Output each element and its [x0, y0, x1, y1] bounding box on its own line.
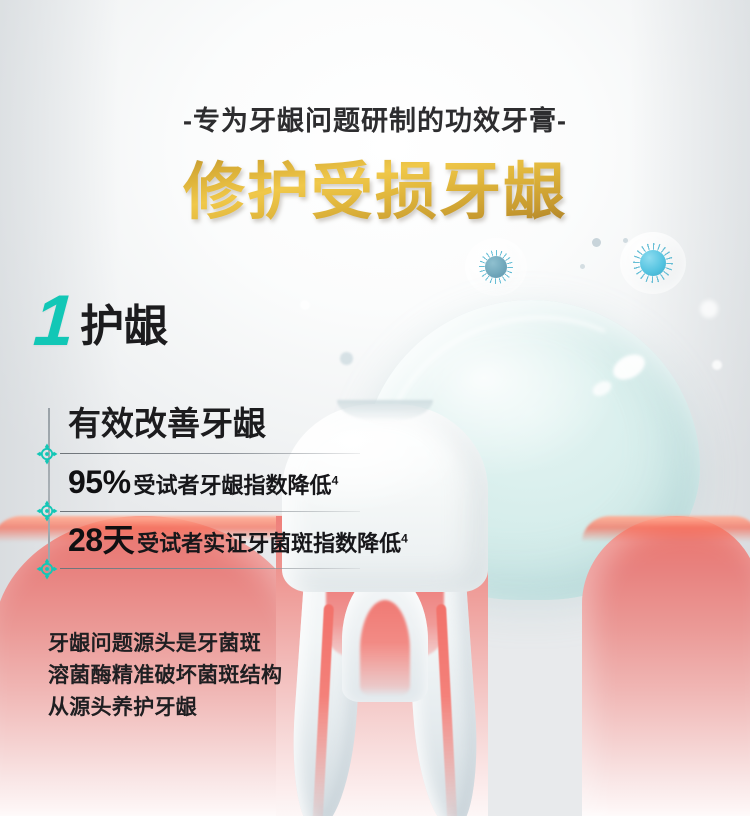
crosshair-target-icon	[36, 500, 58, 522]
stat-label: 受试者牙龈指数降低4	[134, 473, 339, 499]
crosshair-target-icon	[36, 443, 58, 465]
stat-value: 95%	[68, 463, 131, 501]
poster-content: -专为牙龈问题研制的功效牙膏- 修护受损牙龈 1 护龈 有效改善牙龈	[0, 0, 750, 816]
crosshair-target-icon	[36, 558, 58, 580]
section-number: 1	[32, 292, 76, 351]
page-title: 修护受损牙龈	[0, 141, 750, 231]
claim-divider	[60, 511, 360, 512]
supporting-copy-line: 从源头养护牙龈	[48, 692, 282, 724]
stat-footnote-marker: 4	[401, 531, 408, 545]
kicker-text: -专为牙龈问题研制的功效牙膏-	[0, 99, 750, 138]
section-title: 护龈	[80, 305, 168, 351]
section-header: 1 护龈	[34, 292, 168, 351]
claim-divider	[60, 453, 360, 454]
stat-footnote-marker: 4	[332, 474, 339, 488]
claim-stat-row: 95% 受试者牙龈指数降低4	[48, 463, 360, 501]
product-poster: -专为牙龈问题研制的功效牙膏- 修护受损牙龈 1 护龈 有效改善牙龈	[0, 0, 750, 816]
stat-value: 28天	[68, 521, 134, 559]
claim-divider	[60, 568, 360, 569]
claims-list: 有效改善牙龈 95% 受试者牙龈	[48, 404, 360, 578]
claim-heading-row: 有效改善牙龈	[48, 404, 360, 444]
supporting-copy: 牙龈问题源头是牙菌斑 溶菌酶精准破坏菌斑结构 从源头养护牙龈	[48, 628, 282, 724]
stat-label: 受试者实证牙菌斑指数降低4	[137, 531, 408, 557]
claim-heading: 有效改善牙龈	[68, 404, 360, 444]
claim-stat-row: 28天 受试者实证牙菌斑指数降低4	[48, 521, 360, 559]
supporting-copy-line: 溶菌酶精准破坏菌斑结构	[48, 660, 282, 692]
supporting-copy-line: 牙龈问题源头是牙菌斑	[48, 628, 282, 660]
